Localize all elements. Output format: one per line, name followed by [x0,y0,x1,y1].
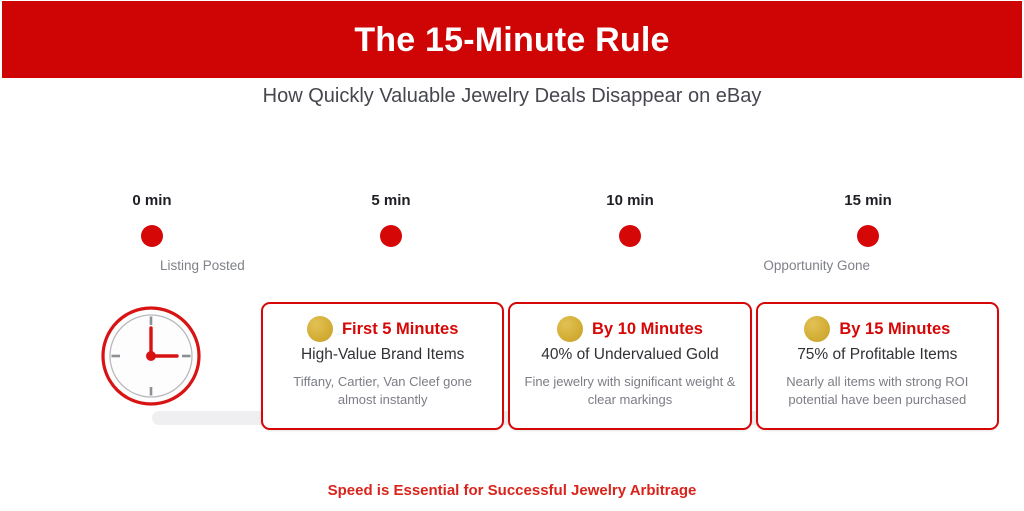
card-subtitle: High-Value Brand Items [273,346,492,365]
card-body-text: Tiffany, Cartier, Van Cleef gone almost … [273,373,492,411]
card-header: First 5 Minutes [273,316,492,342]
timeline-marker-dot[interactable] [619,225,641,247]
card-header: By 10 Minutes [520,316,739,342]
timeline-time-label: 5 min [321,192,461,209]
gold-circle-icon [557,316,583,342]
card-subtitle: 40% of Undervalued Gold [520,346,739,365]
gold-circle-icon [804,316,830,342]
timeline-marker-dot[interactable] [857,225,879,247]
insight-card-first-5-minutes[interactable]: First 5 Minutes High-Value Brand Items T… [261,302,504,430]
insight-cards: First 5 Minutes High-Value Brand Items T… [261,302,999,430]
timeline-caption-end: Opportunity Gone [710,258,870,273]
card-header: By 15 Minutes [768,316,987,342]
insight-card-by-10-minutes[interactable]: By 10 Minutes 40% of Undervalued Gold Fi… [508,302,751,430]
timeline-marker-dot[interactable] [380,225,402,247]
card-body-text: Fine jewelry with significant weight & c… [520,373,739,411]
page-title: The 15-Minute Rule [354,23,669,57]
timeline-time-label: 0 min [82,192,222,209]
footer-note: Speed is Essential for Successful Jewelr… [0,482,1024,499]
timeline: 0 min Listing Posted 5 min 10 min 15 min… [0,185,1024,280]
gold-circle-icon [307,316,333,342]
timeline-time-label: 15 min [798,192,938,209]
timeline-caption-start: Listing Posted [160,258,320,273]
card-title: By 10 Minutes [592,320,703,338]
insight-card-by-15-minutes[interactable]: By 15 Minutes 75% of Profitable Items Ne… [756,302,999,430]
card-body-text: Nearly all items with strong ROI potenti… [768,373,987,411]
timeline-marker-dot[interactable] [141,225,163,247]
header-banner: The 15-Minute Rule [2,1,1022,78]
card-subtitle: 75% of Profitable Items [768,346,987,365]
clock-icon [97,302,205,410]
clock-icon-svg [97,302,205,410]
card-title: First 5 Minutes [342,320,458,338]
card-title: By 15 Minutes [839,320,950,338]
page-subtitle: How Quickly Valuable Jewelry Deals Disap… [0,85,1024,108]
timeline-time-label: 10 min [560,192,700,209]
